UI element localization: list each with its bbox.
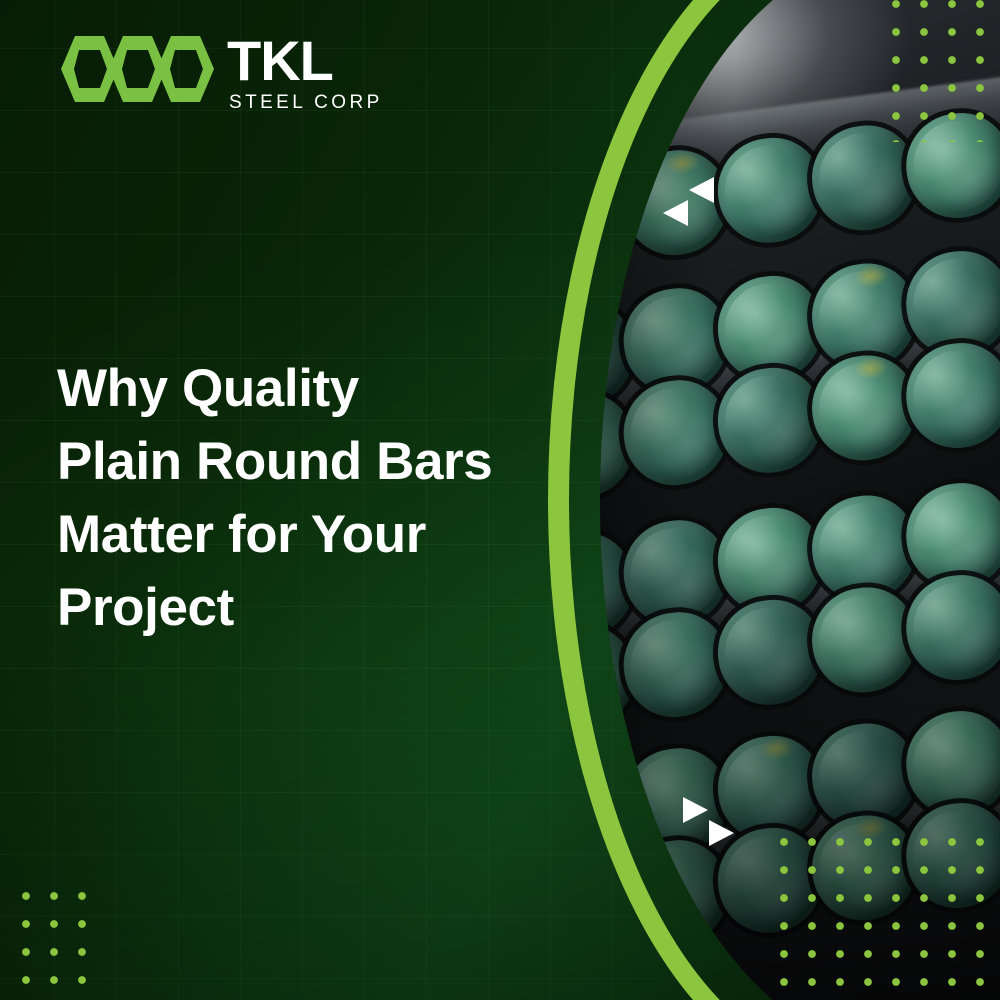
brand-name: TKL [227, 35, 383, 87]
triangle-right-icon [709, 820, 734, 846]
brand-logo[interactable]: TKL STEEL CORP [57, 34, 383, 114]
brand-tagline: STEEL CORP [229, 92, 383, 114]
headline-line: Matter for Your [57, 498, 577, 571]
headline-line: Plain Round Bars [57, 425, 577, 498]
three-interlocking-hexagons-icon [57, 34, 217, 104]
triangle-left-icon [663, 200, 688, 226]
dot-grid-top-right [882, 0, 1000, 142]
promo-poster: TKL STEEL CORP Why Quality Plain Round B… [0, 0, 1000, 1000]
headline-line: Why Quality [57, 352, 577, 425]
page-title: Why Quality Plain Round Bars Matter for … [57, 352, 577, 645]
triangle-right-icon [683, 797, 708, 823]
dot-grid-bottom-right [770, 828, 1000, 1000]
headline-line: Project [57, 571, 577, 644]
dot-grid-bottom-left [12, 882, 102, 1000]
triangle-left-icon [689, 177, 714, 203]
brand-wordmark: TKL STEEL CORP [227, 34, 383, 114]
